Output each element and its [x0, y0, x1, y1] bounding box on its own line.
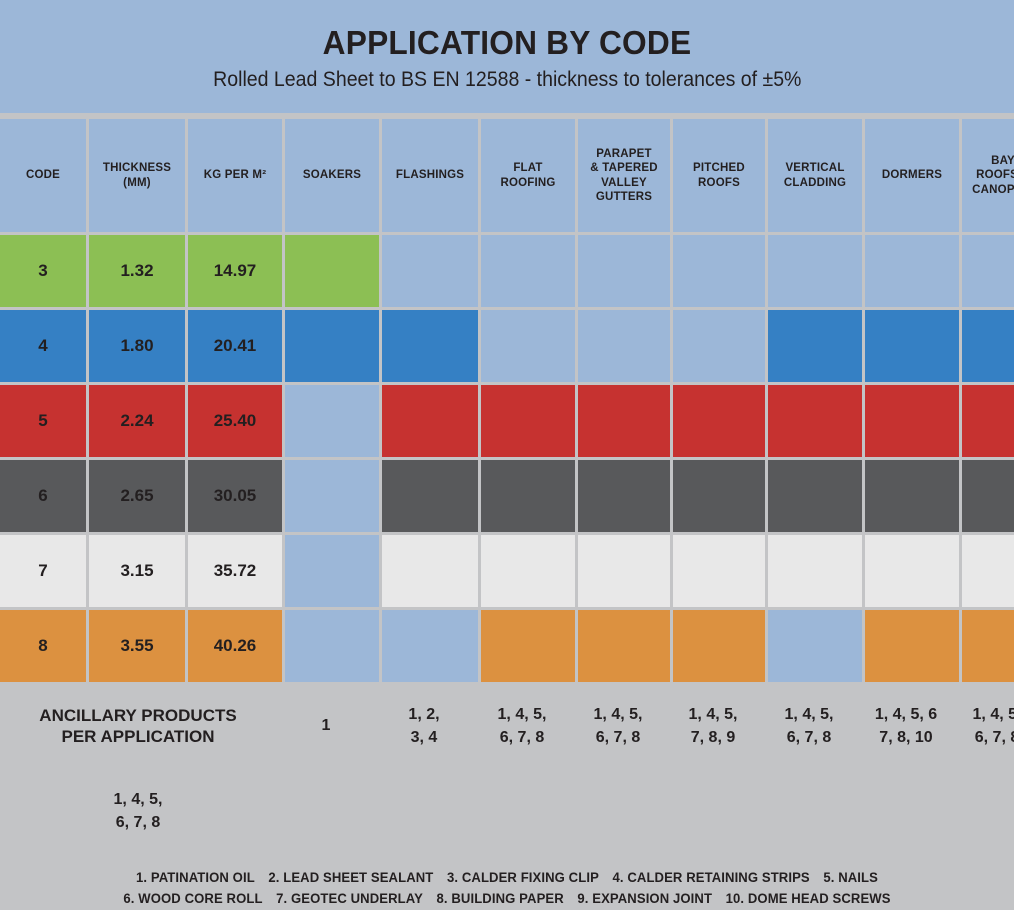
legend-line-1: 1. PATINATION OIL2. LEAD SHEET SEALANT3.… — [15, 868, 999, 889]
table-row: 31.3214.97 — [0, 235, 1014, 307]
ancillary-value-cell: 1, 4, 5,7, 8, 9 — [667, 685, 759, 767]
code-cell: 7 — [0, 535, 86, 607]
thickness-cell: 2.24 — [89, 385, 185, 457]
code-cell: 8 — [0, 610, 86, 682]
kg-per-m2-cell: 40.26 — [188, 610, 282, 682]
application-cell-dormers-on — [865, 385, 959, 457]
ancillary-value-cell: 1, 2,3, 4 — [376, 685, 472, 767]
ancillary-value-cell: 1, 4, 5,6, 7, 8 — [762, 685, 856, 767]
chart-header: APPLICATION BY CODE Rolled Lead Sheet to… — [0, 0, 1014, 113]
legend-item: 4. CALDER RETAINING STRIPS — [612, 870, 809, 885]
application-cell-parapet-valley-gutters-off — [578, 310, 670, 382]
table-header-row: CODETHICKNESS(MM)KG PER M²SOAKERSFLASHIN… — [0, 119, 1014, 232]
table-body: 31.3214.9741.8020.4152.2425.4062.6530.05… — [0, 235, 1014, 682]
column-header-flashings: FLASHINGS — [382, 119, 478, 232]
application-cell-flat-roofing-on — [481, 535, 575, 607]
application-cell-flashings-on — [382, 460, 478, 532]
table-row: 41.8020.41 — [0, 310, 1014, 382]
application-cell-bay-roofs-canopies-on — [962, 310, 1014, 382]
application-cell-dormers-on — [865, 460, 959, 532]
ancillary-legend: 1. PATINATION OIL2. LEAD SHEET SEALANT3.… — [0, 868, 1014, 910]
application-cell-flashings-on — [382, 310, 478, 382]
table-row: 52.2425.40 — [0, 385, 1014, 457]
ancillary-value-cell: 1, 4, 5,6, 7, 8 — [572, 685, 664, 767]
application-cell-parapet-valley-gutters-on — [578, 460, 670, 532]
legend-item: 9. EXPANSION JOINT — [577, 891, 712, 906]
application-cell-flashings-off — [382, 235, 478, 307]
column-header-vertical-cladding: VERTICALCLADDING — [768, 119, 862, 232]
application-cell-flashings-on — [382, 535, 478, 607]
code-cell: 4 — [0, 310, 86, 382]
ancillary-products-row: ANCILLARY PRODUCTSPER APPLICATION11, 2,3… — [0, 685, 1014, 852]
application-cell-soakers-off — [285, 535, 379, 607]
application-cell-bay-roofs-canopies-on — [962, 535, 1014, 607]
legend-line-2: 6. WOOD CORE ROLL7. GEOTEC UNDERLAY8. BU… — [15, 889, 999, 910]
application-cell-dormers-on — [865, 310, 959, 382]
ancillary-value-cell: 1, 4, 5,6, 7, 8 — [956, 685, 1014, 767]
application-cell-flat-roofing-off — [481, 310, 575, 382]
application-cell-flat-roofing-on — [481, 385, 575, 457]
kg-per-m2-cell: 30.05 — [188, 460, 282, 532]
application-cell-pitched-roofs-on — [673, 610, 765, 682]
thickness-cell: 3.55 — [89, 610, 185, 682]
application-cell-flat-roofing-off — [481, 235, 575, 307]
table-row: 73.1535.72 — [0, 535, 1014, 607]
ancillary-value-cell: 1, 4, 5,6, 7, 8 — [0, 770, 276, 852]
application-cell-soakers-off — [285, 460, 379, 532]
page-title: APPLICATION BY CODE — [323, 26, 692, 61]
kg-per-m2-cell: 25.40 — [188, 385, 282, 457]
application-cell-vertical-cladding-on — [768, 460, 862, 532]
ancillary-value-cell: 1, 4, 5,6, 7, 8 — [475, 685, 569, 767]
application-cell-soakers-on — [285, 235, 379, 307]
ancillary-value-cell: 1, 4, 5, 67, 8, 10 — [859, 685, 953, 767]
column-header-bay-roofs-canopies: BAYROOFS &CANOPIES — [962, 119, 1014, 232]
application-cell-bay-roofs-canopies-on — [962, 385, 1014, 457]
application-cell-bay-roofs-canopies-off — [962, 235, 1014, 307]
legend-item: 6. WOOD CORE ROLL — [123, 891, 262, 906]
application-cell-parapet-valley-gutters-on — [578, 535, 670, 607]
code-cell: 6 — [0, 460, 86, 532]
application-cell-bay-roofs-canopies-on — [962, 610, 1014, 682]
kg-per-m2-cell: 35.72 — [188, 535, 282, 607]
application-cell-parapet-valley-gutters-off — [578, 235, 670, 307]
legend-item: 5. NAILS — [823, 870, 878, 885]
code-cell: 3 — [0, 235, 86, 307]
ancillary-value-cell: 1 — [279, 685, 373, 767]
application-cell-pitched-roofs-on — [673, 535, 765, 607]
column-header-kg-per-m: KG PER M² — [188, 119, 282, 232]
application-cell-vertical-cladding-on — [768, 385, 862, 457]
application-cell-dormers-on — [865, 610, 959, 682]
column-header-flat-roofing: FLATROOFING — [481, 119, 575, 232]
application-cell-pitched-roofs-on — [673, 385, 765, 457]
legend-item: 10. DOME HEAD SCREWS — [726, 891, 891, 906]
application-cell-pitched-roofs-off — [673, 310, 765, 382]
application-cell-pitched-roofs-on — [673, 460, 765, 532]
legend-item: 3. CALDER FIXING CLIP — [447, 870, 599, 885]
ancillary-products-label: ANCILLARY PRODUCTSPER APPLICATION — [0, 685, 276, 767]
code-cell: 5 — [0, 385, 86, 457]
column-header-pitched-roofs: PITCHEDROOFS — [673, 119, 765, 232]
page-subtitle: Rolled Lead Sheet to BS EN 12588 - thick… — [213, 69, 801, 91]
legend-item: 2. LEAD SHEET SEALANT — [268, 870, 433, 885]
column-header-parapet-tapered-valley-gutters: PARAPET& TAPEREDVALLEYGUTTERS — [578, 119, 670, 232]
application-cell-soakers-off — [285, 385, 379, 457]
application-cell-vertical-cladding-on — [768, 310, 862, 382]
table-row: 83.5540.26 — [0, 610, 1014, 682]
thickness-cell: 2.65 — [89, 460, 185, 532]
application-cell-soakers-off — [285, 610, 379, 682]
application-cell-dormers-on — [865, 535, 959, 607]
application-cell-vertical-cladding-on — [768, 535, 862, 607]
thickness-cell: 1.80 — [89, 310, 185, 382]
thickness-cell: 1.32 — [89, 235, 185, 307]
application-cell-vertical-cladding-off — [768, 235, 862, 307]
application-cell-parapet-valley-gutters-on — [578, 610, 670, 682]
application-cell-pitched-roofs-off — [673, 235, 765, 307]
thickness-cell: 3.15 — [89, 535, 185, 607]
legend-item: 7. GEOTEC UNDERLAY — [276, 891, 423, 906]
application-cell-bay-roofs-canopies-on — [962, 460, 1014, 532]
application-cell-vertical-cladding-off — [768, 610, 862, 682]
column-header-code: CODE — [0, 119, 86, 232]
legend-item: 8. BUILDING PAPER — [437, 891, 564, 906]
column-header-soakers: SOAKERS — [285, 119, 379, 232]
application-cell-flashings-on — [382, 385, 478, 457]
application-cell-parapet-valley-gutters-on — [578, 385, 670, 457]
column-header-dormers: DORMERS — [865, 119, 959, 232]
table-row: 62.6530.05 — [0, 460, 1014, 532]
kg-per-m2-cell: 20.41 — [188, 310, 282, 382]
application-cell-dormers-off — [865, 235, 959, 307]
application-cell-soakers-on — [285, 310, 379, 382]
application-cell-flat-roofing-on — [481, 610, 575, 682]
column-header-thickness-mm: THICKNESS(MM) — [89, 119, 185, 232]
legend-item: 1. PATINATION OIL — [136, 870, 255, 885]
application-by-code-chart: APPLICATION BY CODE Rolled Lead Sheet to… — [0, 0, 1014, 846]
kg-per-m2-cell: 14.97 — [188, 235, 282, 307]
application-cell-flat-roofing-on — [481, 460, 575, 532]
application-cell-flashings-off — [382, 610, 478, 682]
